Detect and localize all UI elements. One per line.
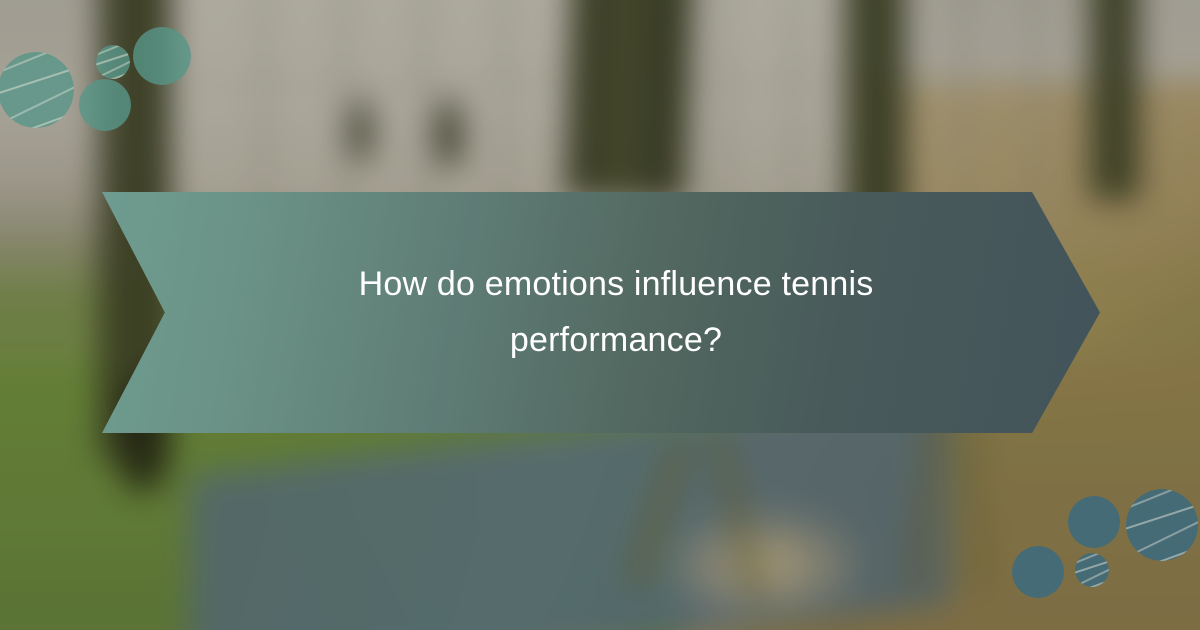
decorative-streak [0,67,74,128]
decorative-circle-streaks [0,52,74,128]
decorative-circle [79,79,131,131]
decorative-circle [0,52,74,128]
decorative-streak [1126,491,1198,543]
decorative-streak [1075,573,1109,587]
decorative-streak [1126,532,1198,561]
decorative-circle [1068,496,1120,548]
decorative-circle-streaks [1075,553,1109,587]
decorative-circle-fill [1012,546,1064,598]
decorative-circle-fill [1068,496,1120,548]
decorative-circle-fill [79,79,131,131]
decorative-streak [96,65,130,79]
decorative-circle-streaks [96,45,130,79]
decorative-circle [1126,489,1198,561]
question-text: How do emotions influence tennis perform… [306,257,926,367]
decorative-streak [0,54,74,109]
decorative-circle-streaks [1126,489,1198,561]
decorative-circle-fill [133,27,191,85]
question-banner: How do emotions influence tennis perform… [102,192,1100,433]
decorative-circle [1012,546,1064,598]
decorative-circle [1075,553,1109,587]
decorative-circle [133,27,191,85]
decorative-streak [0,97,74,128]
share-card: How do emotions influence tennis perform… [0,0,1200,630]
decorative-circle [96,45,130,79]
